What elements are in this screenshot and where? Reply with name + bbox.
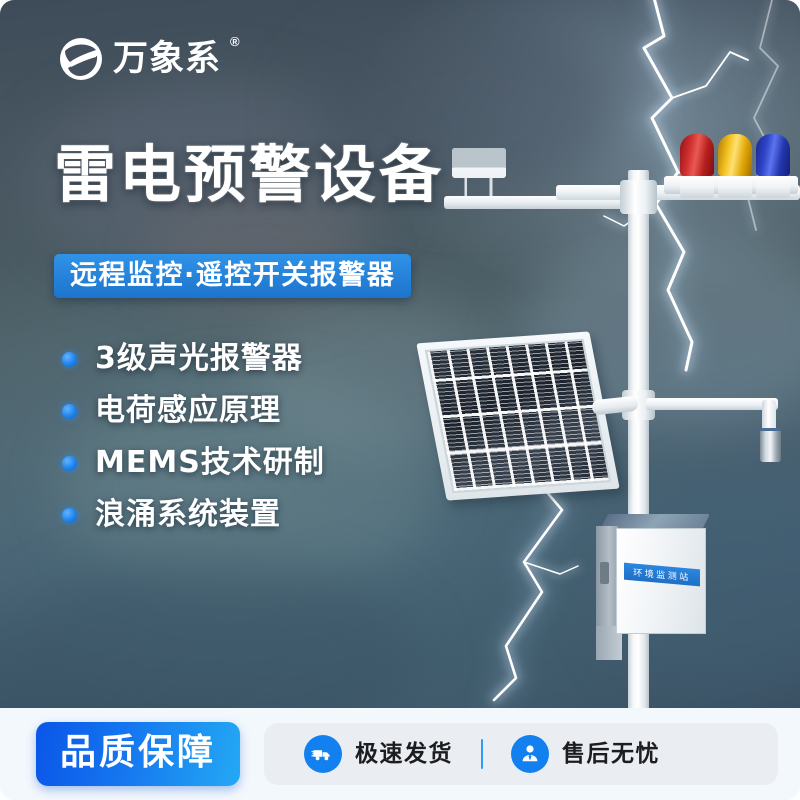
control-cabinet: 环境监测站	[596, 514, 706, 634]
page-title: 雷电预警设备	[54, 142, 444, 207]
lamp-base	[756, 176, 790, 198]
blue-dot-icon	[62, 456, 77, 471]
list-item: 3级声光报警器	[62, 344, 325, 374]
feature-label: 浪涌系统装置	[95, 500, 281, 530]
list-item: 电荷感应原理	[62, 396, 325, 426]
amber-alarm-lamp	[718, 134, 752, 198]
mast-collar	[620, 180, 657, 214]
service-group: 极速发货 售后无忧	[264, 723, 778, 785]
blue-lamp-dome	[756, 134, 790, 176]
blue-dot-icon	[62, 352, 77, 367]
lamp-base	[718, 176, 752, 198]
feature-list: 3级声光报警器 电荷感应原理 MEMS技术研制 浪涌系统装置	[62, 344, 325, 530]
solar-panel	[416, 331, 619, 500]
service-fast-shipping: 极速发货	[282, 735, 475, 773]
registered-trademark-mark: ®	[230, 34, 240, 49]
blue-alarm-lamp	[756, 134, 790, 198]
feature-label: 电荷感应原理	[95, 396, 281, 426]
product-poster: 环境监测站 万象系 ® 雷电预警设备 远程监控·遥控开关报警器 3级声光报警器 …	[0, 0, 800, 800]
list-item: MEMS技术研制	[62, 448, 325, 478]
status-badge: 品质保障	[36, 722, 240, 786]
service-label: 售后无忧	[562, 743, 660, 766]
footer-bar: 品质保障 极速发货	[0, 708, 800, 800]
service-after-sales: 售后无忧	[489, 735, 682, 773]
radiation-shield-sensor-icon	[452, 148, 506, 178]
subtitle-banner: 远程监控·遥控开关报警器	[54, 254, 411, 298]
red-alarm-lamp	[680, 134, 714, 198]
brand-name: 万象系	[113, 42, 221, 77]
brand-logo: 万象系 ®	[58, 36, 240, 82]
camera-sensor-arm	[646, 398, 778, 410]
circular-swoosh-logo-icon	[58, 36, 104, 82]
divider	[481, 739, 483, 769]
sensor-legs	[460, 178, 498, 196]
delivery-truck-icon	[304, 735, 342, 773]
service-label: 极速发货	[355, 743, 453, 766]
lamp-base	[680, 176, 714, 198]
amber-lamp-dome	[718, 134, 752, 176]
feature-label: 3级声光报警器	[95, 344, 303, 374]
red-lamp-dome	[680, 134, 714, 176]
blue-dot-icon	[62, 508, 77, 523]
cabinet-vent	[600, 562, 609, 584]
blue-dot-icon	[62, 404, 77, 419]
support-agent-icon	[511, 735, 549, 773]
solar-panel-cells	[425, 339, 612, 493]
cabinet-side	[596, 526, 618, 630]
list-item: 浪涌系统装置	[62, 500, 325, 530]
feature-label: MEMS技术研制	[95, 448, 325, 478]
cylindrical-sensor	[760, 428, 781, 462]
